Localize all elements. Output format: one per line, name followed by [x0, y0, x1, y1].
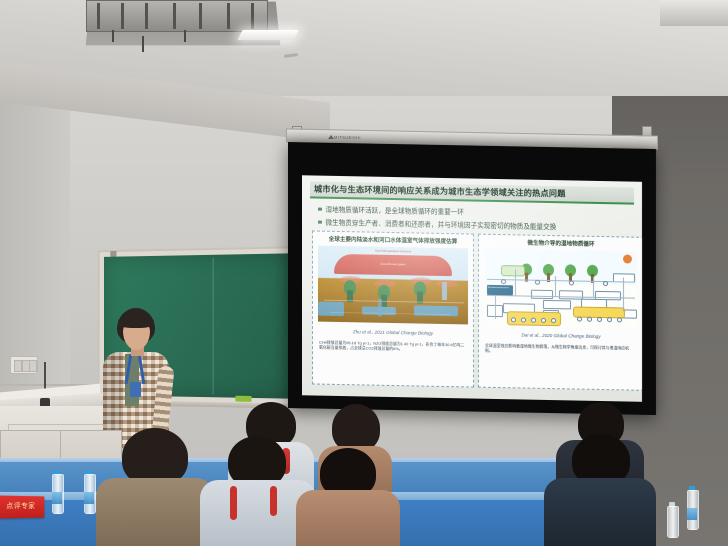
figure-left-artwork: Greenhouse gases Total CH4 equivalent em… [318, 246, 468, 325]
presentation-slide: 城市化与生态环境间的响应关系成为城市生态学领域关注的热点问题 湿地物质循环活跃，… [302, 175, 642, 402]
wall-switch-panel[interactable] [10, 356, 38, 374]
ceiling [0, 0, 728, 96]
eraser[interactable] [235, 396, 251, 402]
slide-bullet-2: 微生物贯穿生产者、消费者和还原者，并与环境因子实现密切的物质及能量交换 [318, 217, 556, 232]
figure-left: 全球主要内陆淡水和河口水体温室气体排放强度估算 Greenhouse gases… [312, 230, 474, 387]
name-card-text: 点评专家 [6, 501, 35, 511]
figure-right-note: 全球温室效应影响着湿地微生物群落，从微生物学角度出发，可探讨其与增温响应机制。 [485, 343, 635, 356]
tree-icon [344, 280, 356, 302]
figure-left-citation: Zhu et al., 2021 Global Change Biology [313, 328, 473, 336]
name-card: 点评专家 [0, 496, 44, 519]
lecture-hall-photo: MITSUBISHI 城市化与生态环境间的响应关系成为城市生态学领域关注的热点问… [0, 0, 728, 546]
figure-right-citation: Dai et al., 2020 Global Change Biology [479, 332, 642, 340]
slide-bullet-1: 湿地物质循环活跃，是全球物质循环的重要一环 [318, 204, 464, 217]
presenter-fringe [118, 315, 154, 328]
list-item [96, 428, 214, 546]
slide-bullet-2-text: 微生物贯穿生产者、消费者和还原者，并与环境因子实现密切的物质及能量交换 [326, 220, 557, 231]
node-photosynthesis [501, 265, 525, 276]
ceiling-mark [284, 53, 298, 58]
tree-icon [414, 281, 426, 303]
figure-right-artwork: Atmosphere Elevated temperature [485, 249, 637, 330]
figure-left-note: CH4排放总量为95.18 Tg yr-1，N2O排放总量为1.40 Tg yr… [319, 340, 467, 353]
dome-top-label: Total CH4 equivalent emissions [318, 249, 468, 255]
ceiling-highlight [660, 0, 728, 26]
dome-inner-label: Greenhouse gases [334, 261, 452, 267]
figure-left-caption: 全球主要内陆淡水和河口水体温室气体排放强度估算 [313, 234, 473, 245]
ceiling-projector-mount [86, 0, 268, 32]
screen-brand-label: MITSUBISHI [334, 135, 361, 141]
figure-right-caption: 微生物介导的湿地物质循环 [479, 238, 642, 249]
blackboard-seam [212, 258, 213, 395]
bullet-square-icon [318, 220, 322, 224]
sun-icon [623, 254, 632, 263]
figure-right: 微生物介导的湿地物质循环 Atmosphere Elevated tempera… [478, 234, 642, 391]
list-item [296, 448, 400, 546]
slide-bullet-1-text: 湿地物质循环活跃，是全球物质循环的重要一环 [326, 207, 464, 217]
emission-dome: Greenhouse gases [334, 254, 452, 276]
blackboard-clip [110, 251, 116, 257]
elevated-temperature-label: Elevated temperature [488, 287, 509, 289]
list-item [544, 434, 656, 546]
bullet-square-icon [318, 207, 322, 211]
silo-icon [442, 282, 447, 300]
presenter-badge [130, 382, 141, 397]
ceiling-light [237, 30, 298, 40]
projection-screen: 城市化与生态环境间的响应关系成为城市生态学领域关注的热点问题 湿地物质循环活跃，… [288, 142, 656, 415]
presenter [99, 308, 173, 448]
